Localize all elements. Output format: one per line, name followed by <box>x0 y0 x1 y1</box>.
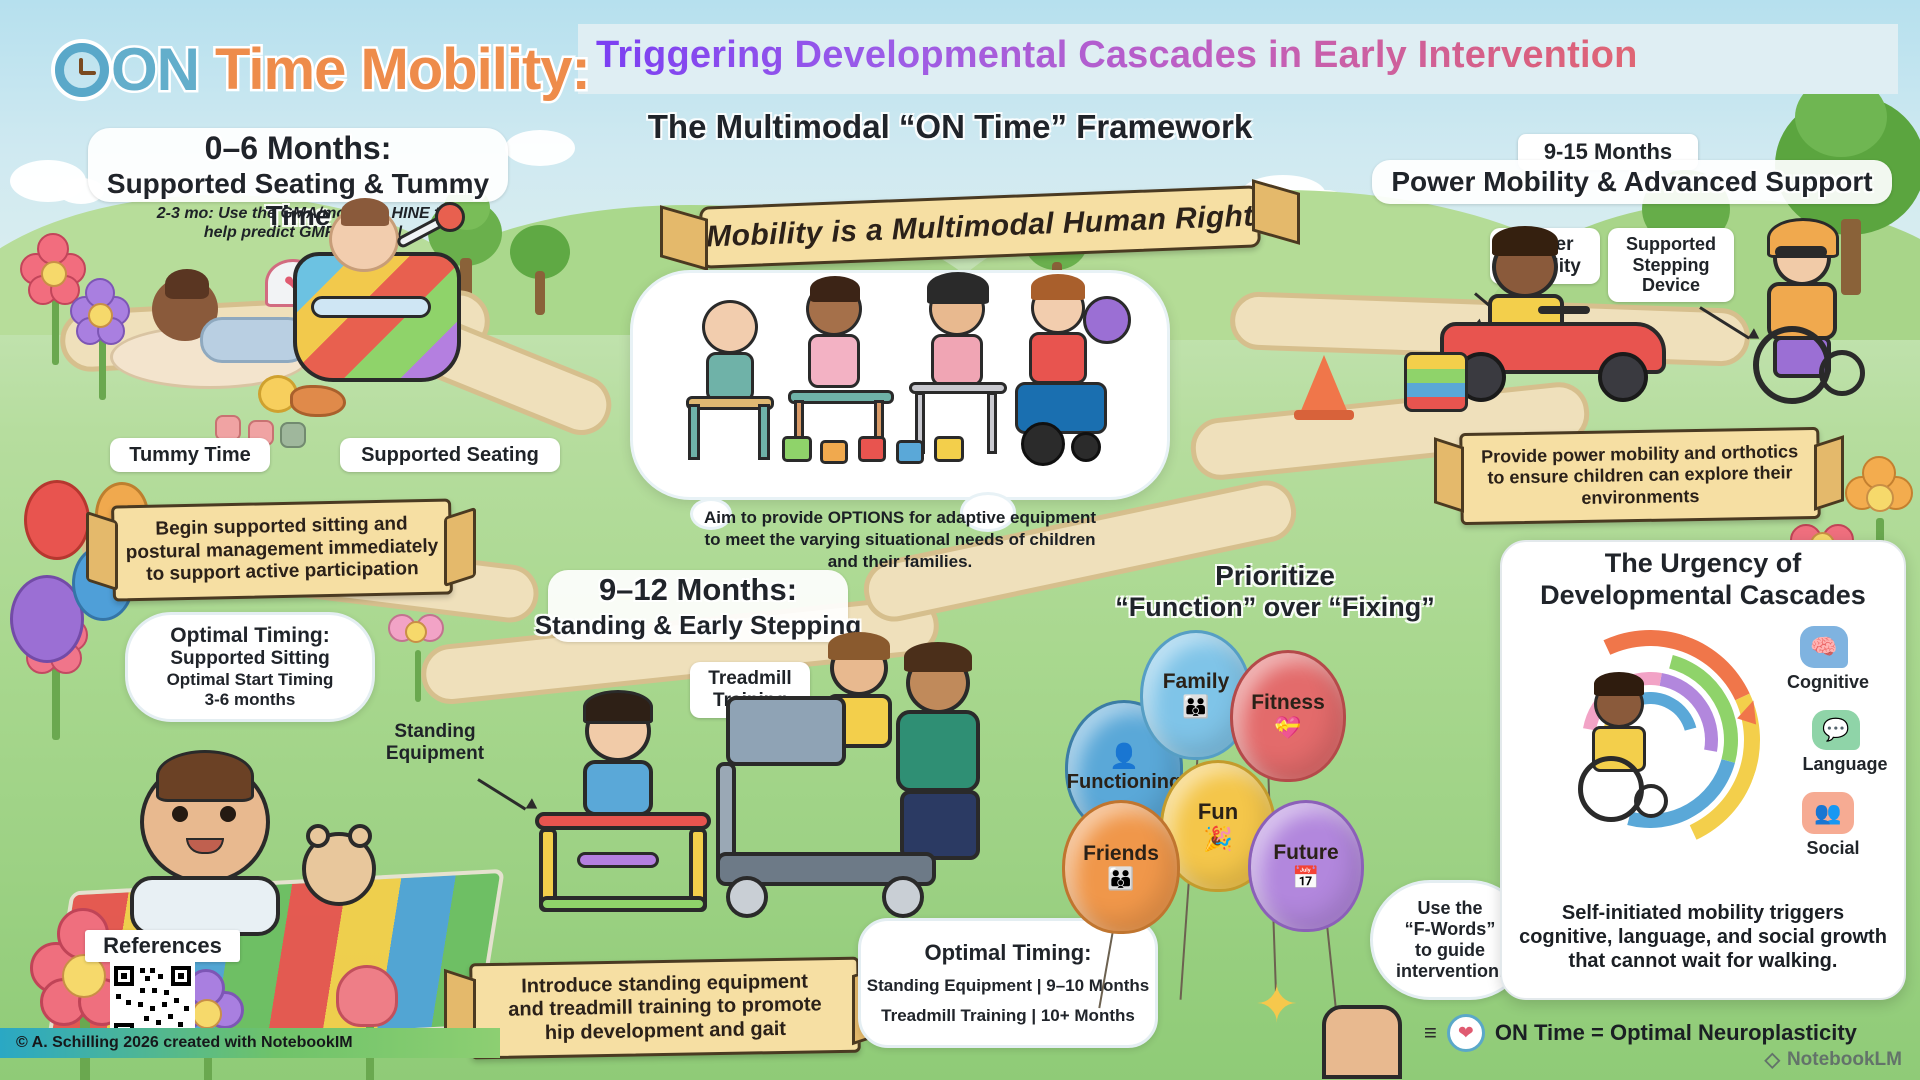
traffic-cone-icon <box>1300 355 1348 413</box>
standing-equipment-label: StandingEquipment <box>380 715 490 771</box>
hand-illustration <box>1322 1005 1402 1079</box>
mid-banner: Introduce standing equipment and treadmi… <box>469 957 861 1060</box>
banner-tail-decoration <box>1814 435 1844 511</box>
optimal-timing-line3: 3-6 months <box>205 690 296 710</box>
optimal-timing-line2: Optimal Start Timing <box>167 670 334 690</box>
optimal-timing-standing-card: Optimal Timing: Standing Equipment | 9–1… <box>858 918 1158 1048</box>
left-banner: Begin supported sitting and postural man… <box>111 498 453 601</box>
neuroplasticity-text: ON Time = Optimal Neuroplasticity <box>1495 1020 1857 1046</box>
toy-block-decoration <box>782 436 812 462</box>
balloon-fun-label: Fun <box>1198 799 1238 825</box>
balloon-friends-label: Friends <box>1083 842 1159 866</box>
cascade-child-illustration <box>1560 680 1680 820</box>
optimal-timing-sitting-card: Optimal Timing: Supported Sitting Optima… <box>125 612 375 722</box>
tummy-time-label: Tummy Time <box>110 438 270 472</box>
mid-banner-line3: hip development and gait <box>545 1018 787 1046</box>
star-toy-decoration <box>280 422 306 448</box>
balloon-decoration <box>24 480 90 560</box>
left-age-range: 0–6 Months: <box>88 130 508 167</box>
balloon-fitness: Fitness 💝 <box>1230 650 1346 782</box>
toy-block-decoration <box>820 440 848 464</box>
fwords-hint-line2: “F-Words” <box>1405 919 1496 940</box>
traffic-cone-base <box>1294 410 1354 420</box>
optimal-timing-title: Optimal Timing: <box>170 624 329 648</box>
fwords-title-line1: Prioritize <box>1130 560 1420 592</box>
cascade-caption-line2: cognitive, language, and social growth <box>1495 926 1911 949</box>
banner-tail-decoration <box>86 511 118 591</box>
child-standing-frame-illustration <box>680 300 780 470</box>
flower-decoration <box>330 965 410 1080</box>
references-label: References <box>85 930 240 962</box>
mid-headline: Standing & Early Stepping <box>528 610 868 641</box>
balloon-functioning-label: Functioning <box>1067 771 1181 794</box>
infographic-poster: ON Time Mobility: Triggering Development… <box>0 0 1920 1080</box>
supported-seating-label: Supported Seating <box>340 438 560 472</box>
stacking-rings-icon <box>1404 352 1468 412</box>
bubble-caption-line1: Aim to provide OPTIONS for adaptive equi… <box>640 508 1160 528</box>
fwords-hint-line4: intervention. <box>1396 961 1504 982</box>
supported-stepping-device-illustration <box>1735 230 1895 410</box>
alarm-clock-icon: ❤ <box>1447 1014 1485 1052</box>
left-banner-line3: to support active participation <box>146 558 419 586</box>
calendar-icon: 📅 <box>1292 865 1319 891</box>
party-popper-icon: 🎉 <box>1203 825 1233 854</box>
bubble-caption-line3: and their families. <box>640 552 1160 572</box>
right-banner-line2: to ensure children can explore their <box>1487 463 1792 490</box>
arrow-to-standing-equipment <box>477 778 526 810</box>
cascade-caption-line3: that cannot wait for walking. <box>1500 950 1906 973</box>
cascade-label-social: Social <box>1788 838 1878 859</box>
child-power-wheelchair-illustration <box>1005 282 1145 477</box>
copyright-text: © A. Schilling 2026 created with Noteboo… <box>16 1034 353 1052</box>
sparkle-icon: ✦ <box>1255 975 1299 1035</box>
brand-on-letter: ON <box>111 40 199 100</box>
right-headline: Power Mobility & Advanced Support <box>1372 166 1892 198</box>
right-banner-line3: environments <box>1581 486 1699 509</box>
friends-icon: 👪 <box>1107 866 1134 892</box>
banner-tail-decoration <box>1434 437 1464 513</box>
cascade-title-line1: The Urgency of <box>1500 548 1906 579</box>
cascade-caption-line1: Self-initiated mobility triggers <box>1500 902 1906 925</box>
balloon-future: Future 📅 <box>1248 800 1364 932</box>
right-banner: Provide power mobility and orthotics to … <box>1459 427 1821 525</box>
balloon-fitness-label: Fitness <box>1251 691 1325 715</box>
fwords-title-line2: “Function” over “Fixing” <box>1110 592 1440 623</box>
toy-block-decoration <box>896 440 924 464</box>
bubble-caption-line2: to meet the varying situational needs of… <box>640 530 1160 550</box>
cloud-decoration <box>505 130 575 166</box>
cascade-title-line2: Developmental Cascades <box>1490 580 1916 611</box>
balloon-future-label: Future <box>1273 841 1338 865</box>
functioning-icon: 👤 <box>1109 742 1139 771</box>
notebooklm-brand-text: NotebookLM <box>1787 1049 1902 1071</box>
baby-on-mat-illustration <box>120 750 400 950</box>
mobility-right-ribbon-text: Mobility is a Multimodal Human Right <box>706 199 1255 254</box>
brain-icon: 🧠 <box>1800 626 1848 668</box>
copyright-bar: © A. Schilling 2026 created with Noteboo… <box>0 1028 500 1058</box>
supported-seating-illustration <box>265 200 485 390</box>
banner-tail-decoration <box>444 507 476 587</box>
balloon-friends: Friends 👪 <box>1062 800 1180 934</box>
treadmill-training-illustration <box>710 640 1020 940</box>
cascade-label-cognitive: Cognitive <box>1780 672 1876 693</box>
toy-block-decoration <box>934 436 964 462</box>
fwords-hint-line3: to guide <box>1415 940 1485 961</box>
notebook-icon: ◇ <box>1765 1047 1780 1072</box>
notebooklm-brand: ◇ NotebookLM <box>1765 1047 1902 1072</box>
tree-decoration <box>505 225 575 320</box>
cascade-label-language: Language <box>1790 754 1900 775</box>
optimal-timing-line1: Supported Sitting <box>170 648 329 670</box>
optimal-timing-standing-row1: Standing Equipment | 9–10 Months <box>867 976 1149 996</box>
heart-pulse-icon: 💝 <box>1274 715 1301 741</box>
list-lines-icon: ≡ <box>1424 1020 1437 1046</box>
framework-title: The Multimodal “ON Time” Framework <box>600 108 1300 146</box>
poster-title: ON Time Mobility: <box>55 40 590 100</box>
family-icon: 👪 <box>1182 694 1209 720</box>
toy-block-decoration <box>858 436 886 462</box>
brand-rest: Time Mobility: <box>215 41 590 99</box>
fwords-hint-line1: Use the <box>1417 898 1482 919</box>
balloon-family-label: Family <box>1163 670 1230 694</box>
speech-bubble-icon: 💬 <box>1812 710 1860 750</box>
mid-age-range: 9–12 Months: <box>548 572 848 608</box>
people-icon: 👥 <box>1802 792 1854 834</box>
clock-icon <box>55 43 109 97</box>
poster-subtitle: Triggering Developmental Cascades in Ear… <box>596 34 1896 77</box>
flower-decoration <box>388 610 448 700</box>
standing-equipment-illustration <box>525 700 725 930</box>
optimal-timing-standing-row2: Treadmill Training | 10+ Months <box>881 1006 1135 1026</box>
optimal-timing-standing-title: Optimal Timing: <box>924 940 1091 966</box>
